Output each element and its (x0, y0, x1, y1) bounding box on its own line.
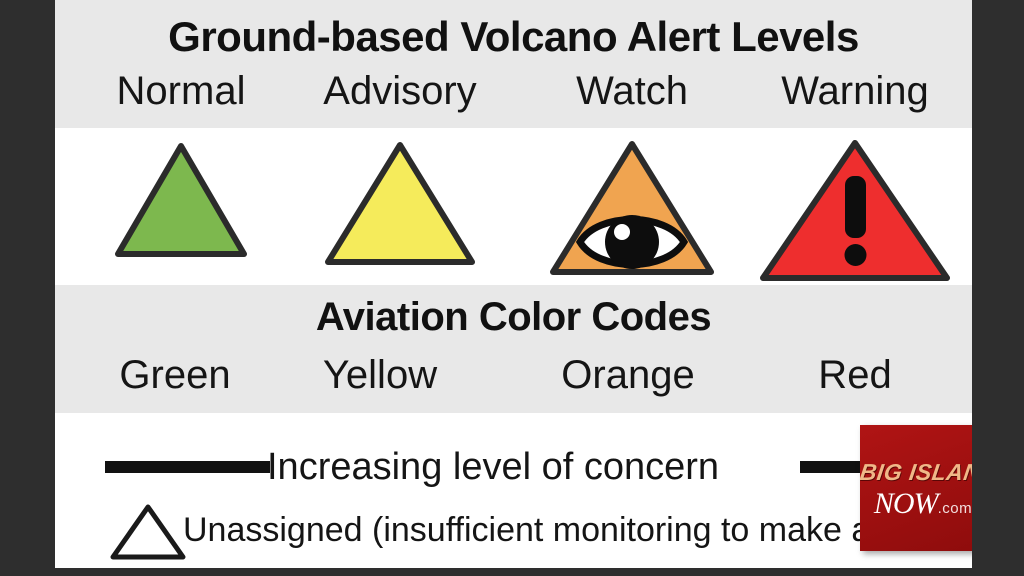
concern-arrow-bar-left (105, 461, 270, 473)
aviation-color-green: Green (119, 350, 230, 400)
exclamation-icon (845, 176, 867, 266)
watch-orange-triangle-eye-icon (546, 138, 718, 280)
warning-red-triangle-exclamation-icon (757, 138, 953, 286)
letterbox-right (972, 0, 1024, 576)
alert-icons-band (55, 128, 972, 285)
watermark-line-big-island: BIG ISLAND (860, 459, 972, 486)
advisory-yellow-triangle-icon (321, 138, 479, 270)
aviation-color-orange: Orange (561, 350, 694, 400)
ground-alert-level-labels: Normal Advisory Watch Warning (55, 66, 972, 120)
alert-level-warning: Warning (781, 66, 928, 116)
alert-level-normal: Normal (117, 66, 246, 116)
aviation-color-labels: Green Yellow Orange Red (55, 350, 972, 404)
screenshot-root: Ground-based Volcano Alert Levels Normal… (0, 0, 1024, 576)
watermark-com-text: .com (938, 500, 972, 517)
big-island-now-watermark[interactable]: BIG ISLAND NOW.com (860, 425, 972, 551)
aviation-color-yellow: Yellow (323, 350, 437, 400)
icon-slot-normal (81, 138, 281, 278)
increasing-concern-label: Increasing level of concern (267, 443, 719, 491)
legend-band: Increasing level of concern Unassigned (… (55, 413, 972, 568)
icon-slot-advisory (300, 138, 500, 278)
watermark-now-text: NOW (874, 487, 938, 520)
ground-based-section-title: Ground-based Volcano Alert Levels (55, 0, 972, 58)
normal-green-triangle-icon (111, 138, 251, 262)
icon-slot-watch (532, 138, 732, 278)
alert-level-advisory: Advisory (323, 66, 476, 116)
increasing-concern-row: Increasing level of concern (55, 437, 972, 493)
aviation-section-title: Aviation Color Codes (55, 285, 972, 337)
aviation-color-red: Red (818, 350, 891, 400)
unassigned-outline-triangle-icon (107, 501, 189, 568)
watermark-line-now: NOW.com (860, 487, 972, 521)
alert-level-watch: Watch (576, 66, 688, 116)
icon-slot-warning (755, 138, 955, 278)
volcano-alert-infographic: Ground-based Volcano Alert Levels Normal… (55, 0, 972, 568)
unassigned-row: Unassigned (insufficient monitoring to m… (55, 501, 972, 563)
unassigned-label: Unassigned (insufficient monitoring to m… (183, 507, 957, 553)
letterbox-left (0, 0, 55, 576)
